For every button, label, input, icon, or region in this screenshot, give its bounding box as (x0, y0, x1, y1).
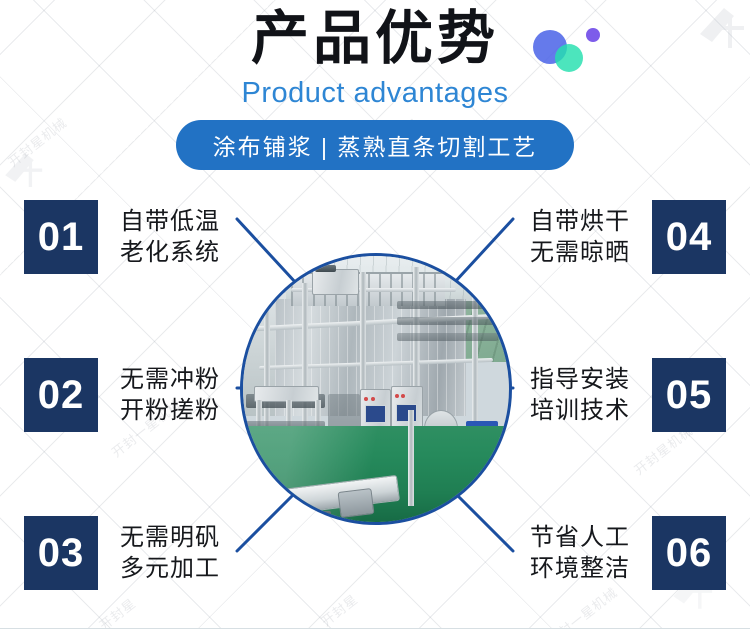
feature-number-04: 04 (652, 200, 726, 274)
feature-line-2: 环境整洁 (530, 553, 630, 584)
decorative-dots (533, 22, 605, 74)
feature-line-1: 无需冲粉 (120, 364, 220, 395)
process-banner-label: 涂布铺浆 | 蒸熟直条切割工艺 (213, 128, 538, 162)
infographic-page: 开封星机械 开封一星机械 开封星机械 开封星 开封一星机械 开封星 开封星 产品… (0, 0, 750, 629)
feature-item-06[interactable]: 06 节省人工 环境整洁 (530, 516, 726, 590)
feature-line-1: 节省人工 (530, 522, 630, 553)
feature-number-01: 01 (24, 200, 98, 274)
feature-line-1: 自带烘干 (530, 206, 630, 237)
feature-item-02[interactable]: 02 无需冲粉 开粉搓粉 (24, 358, 220, 432)
process-banner: 涂布铺浆 | 蒸熟直条切割工艺 (176, 120, 574, 170)
factory-photo (243, 256, 509, 522)
feature-line-2: 开粉搓粉 (120, 395, 220, 426)
feature-item-01[interactable]: 01 自带低温 老化系统 (24, 200, 220, 274)
feature-text-02: 无需冲粉 开粉搓粉 (120, 364, 220, 426)
feature-item-04[interactable]: 04 自带烘干 无需晾晒 (530, 200, 726, 274)
feature-text-03: 无需明矾 多元加工 (120, 522, 220, 584)
page-title: 产品优势 (0, 0, 750, 71)
header: 产品优势 Product advantages (0, 0, 750, 110)
factory-photo-circle (240, 253, 512, 525)
feature-line-2: 培训技术 (530, 395, 630, 426)
feature-text-06: 节省人工 环境整洁 (530, 522, 630, 584)
feature-line-2: 老化系统 (120, 237, 220, 268)
feature-text-05: 指导安装 培训技术 (530, 364, 630, 426)
feature-text-01: 自带低温 老化系统 (120, 206, 220, 268)
feature-item-03[interactable]: 03 无需明矾 多元加工 (24, 516, 220, 590)
feature-line-1: 无需明矾 (120, 522, 220, 553)
feature-line-1: 指导安装 (530, 364, 630, 395)
feature-line-2: 多元加工 (120, 553, 220, 584)
feature-number-05: 05 (652, 358, 726, 432)
feature-text-04: 自带烘干 无需晾晒 (530, 206, 630, 268)
feature-number-06: 06 (652, 516, 726, 590)
dot-purple-icon (586, 28, 600, 42)
feature-number-02: 02 (24, 358, 98, 432)
feature-line-1: 自带低温 (120, 206, 220, 237)
feature-line-2: 无需晾晒 (530, 237, 630, 268)
dot-teal-icon (555, 44, 583, 72)
feature-number-03: 03 (24, 516, 98, 590)
feature-item-05[interactable]: 05 指导安装 培训技术 (530, 358, 726, 432)
page-subtitle: Product advantages (0, 71, 750, 110)
